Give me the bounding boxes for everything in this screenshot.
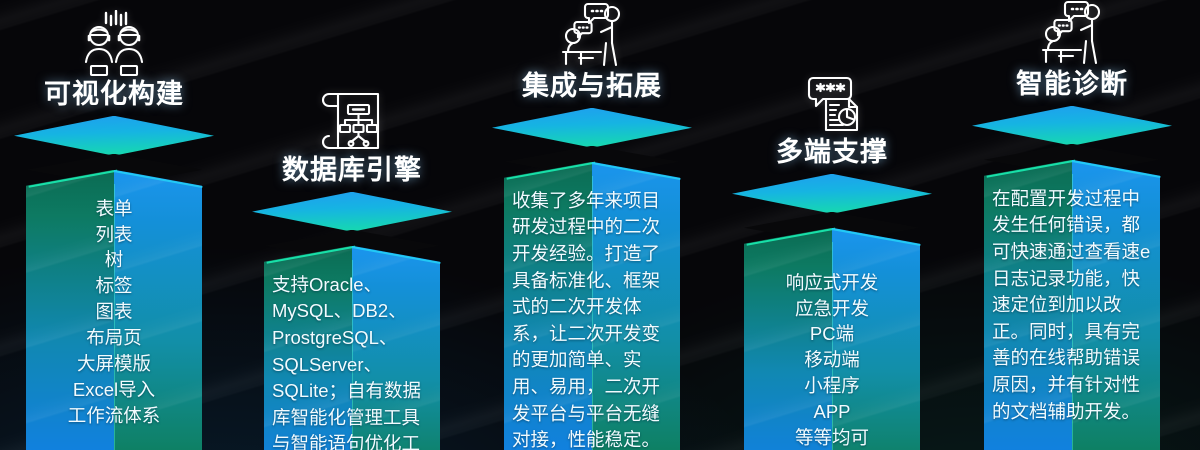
column-body-text: 收集了多年来项目研发过程中的二次开发经验。打造了具备标准化、框架式的二次开发体系… [504,188,680,450]
column-visual-build[interactable]: 可视化构建 表单 列表 树 标签 图表 布局页 大屏模版 Excel导入 工作流… [14,4,214,450]
column-body-text: 在配置开发过程中发生任何错误，都可快速通过查看速e日志记录功能，快速定位到加以改… [984,186,1160,426]
column-body-text: 响应式开发 应急开发 PC端 移动端 小程序 APP 等等均可 [744,270,920,450]
pillar-body: 表单 列表 树 标签 图表 布局页 大屏模版 Excel导入 工作流体系 [26,170,202,450]
infographic-canvas: 可视化构建 表单 列表 树 标签 图表 布局页 大屏模版 Excel导入 工作流… [0,0,1200,450]
pillar-box: 在配置开发过程中发生任何错误，都可快速通过查看速e日志记录功能，快速定位到加以改… [972,106,1172,450]
people-chat-desk-icon [972,0,1172,68]
chat-bubble-document-chart-icon [732,62,932,136]
column-title: 可视化构建 [14,80,214,110]
pillar-body: 响应式开发 应急开发 PC端 移动端 小程序 APP 等等均可 [744,228,920,450]
column-title: 数据库引擎 [252,156,452,186]
database-network-icon [252,80,452,154]
pillar-lid [492,108,692,148]
pillar-box: 收集了多年来项目研发过程中的二次开发经验。打造了具备标准化、框架式的二次开发体系… [492,108,692,450]
column-multi-terminal-support[interactable]: 多端支撑 响应式开发 应急开发 PC端 移动端 小程序 APP 等等均可 [732,62,932,450]
pillar-lid [14,116,214,156]
pillar-box: 支持Oracle、MySQL、DB2、ProstgreSQL、SQLServer… [252,192,452,450]
pillar-body: 收集了多年来项目研发过程中的二次开发经验。打造了具备标准化、框架式的二次开发体系… [504,162,680,450]
people-chat-desk-icon [492,0,692,70]
column-title: 智能诊断 [972,70,1172,100]
pillar-lid [252,192,452,232]
column-title: 多端支撑 [732,138,932,168]
pillar-body: 在配置开发过程中发生任何错误，都可快速通过查看速e日志记录功能，快速定位到加以改… [984,160,1160,450]
column-smart-diagnosis[interactable]: 智能诊断 在配置开发过程中发生任何错误，都可快速通过查看速e日志记录功能，快速定… [972,0,1172,450]
column-body-text: 表单 列表 树 标签 图表 布局页 大屏模版 Excel导入 工作流体系 [26,196,202,429]
pillar-box: 响应式开发 应急开发 PC端 移动端 小程序 APP 等等均可 [732,174,932,450]
pillar-lid [972,106,1172,146]
column-integration-extension[interactable]: 集成与拓展 收集了多年来项目研发过程中的二次开发经验。打造了具备标准化、框架式的… [492,0,692,450]
pillar-box: 表单 列表 树 标签 图表 布局页 大屏模版 Excel导入 工作流体系 [14,116,214,450]
pillar-lid [732,174,932,214]
two-people-with-headsets-icon [14,4,214,78]
column-title: 集成与拓展 [492,72,692,102]
column-database-engine[interactable]: 数据库引擎 支持Oracle、MySQL、DB2、ProstgreSQL、SQL… [252,80,452,450]
pillar-body: 支持Oracle、MySQL、DB2、ProstgreSQL、SQLServer… [264,246,440,450]
column-body-text: 支持Oracle、MySQL、DB2、ProstgreSQL、SQLServer… [264,272,440,450]
